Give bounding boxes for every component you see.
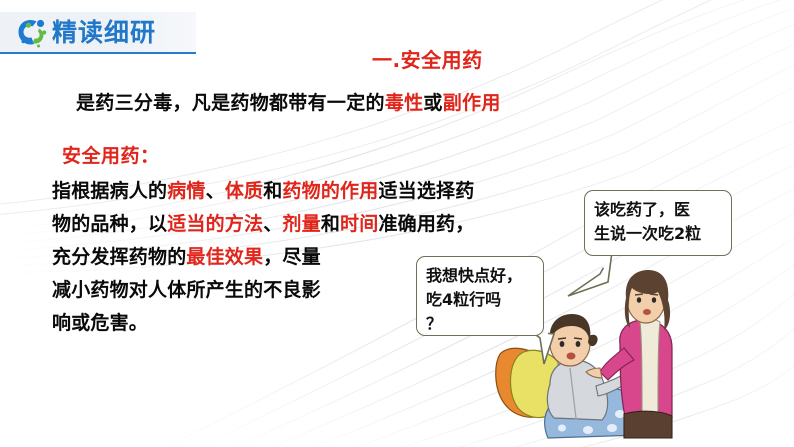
def1-e: 和 [263, 180, 282, 202]
speech-bubble-mother: 该吃药了，医 生说一次吃2粒 [584, 190, 732, 256]
proverb-part-plain-1: 是药三分毒，凡是药物都带有一定的 [76, 92, 385, 114]
proverb-part-side-effect: 副作用 [443, 92, 501, 114]
def1-f: 药物的作用 [282, 180, 378, 202]
header-underline [0, 52, 196, 54]
slide-root: 精读细研 一.安全用药 是药三分毒，凡是药物都带有一定的毒性或副作用 安全用药：… [0, 0, 794, 447]
def2-e: 和 [321, 213, 340, 235]
def1-d: 体质 [225, 180, 263, 202]
speech-bubble-child: 我想快点好， 吃4粒行吗 ？ [416, 256, 544, 336]
def1-g: 适当选择药 [378, 180, 474, 202]
def4-a: 减小药物对人体所产生的不良影 [52, 279, 321, 301]
child-bubble-line-2: 吃4粒行吗 [426, 288, 535, 312]
proverb-line: 是药三分毒，凡是药物都带有一定的毒性或副作用 [76, 88, 501, 115]
def3-c: ，尽量 [263, 246, 321, 268]
page-title: 精读细研 [52, 17, 156, 49]
people-circle-logo-icon [14, 16, 50, 50]
definition-line-2: 物的品种，以适当的方法、剂量和时间准确用药， [52, 208, 482, 241]
def2-c: 、 [263, 213, 282, 235]
section-heading: 一.安全用药 [372, 44, 483, 73]
def1-b: 病情 [167, 180, 205, 202]
def2-b: 适当的方法 [167, 213, 263, 235]
proverb-part-or: 或 [423, 92, 442, 114]
definition-line-1: 指根据病人的病情、体质和药物的作用适当选择药 [52, 175, 482, 208]
child-bubble-line-3: ？ [426, 312, 535, 336]
child-bubble-line-1: 我想快点好， [426, 264, 535, 288]
def2-f: 时间 [340, 213, 378, 235]
def2-g: 准确用药， [378, 213, 474, 235]
mother-bubble-line-1: 该吃药了，医 [594, 198, 723, 222]
definition-label: 安全用药： [62, 141, 160, 168]
def1-a: 指根据病人的 [52, 180, 167, 202]
def2-a: 物的品种，以 [52, 213, 167, 235]
def5-a: 响或危害。 [52, 312, 148, 334]
def2-d: 剂量 [282, 213, 320, 235]
def1-c: 、 [206, 180, 225, 202]
def3-a: 充分发挥药物的 [52, 246, 186, 268]
mother-bubble-line-2: 生说一次吃2粒 [594, 222, 723, 246]
proverb-part-toxicity: 毒性 [385, 92, 424, 114]
def3-b: 最佳效果 [186, 246, 263, 268]
